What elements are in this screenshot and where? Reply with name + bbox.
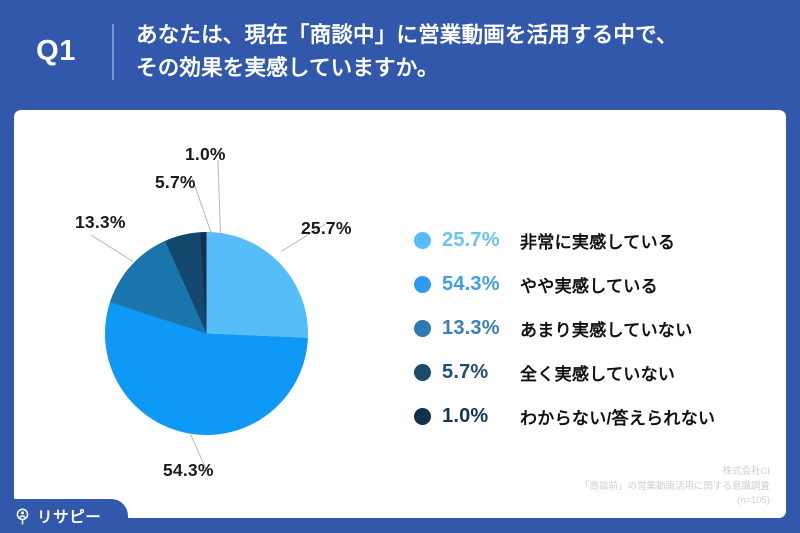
footnote-survey-name: 「商談前」の営業動画活用に関する意識調査 bbox=[580, 480, 770, 495]
pie-chart bbox=[105, 232, 308, 435]
footnote-company: 株式会社CI bbox=[580, 465, 770, 480]
brand-logo[interactable]: リサピー bbox=[0, 499, 128, 533]
legend-label-2: やや実感している bbox=[520, 272, 658, 297]
legend-item-あまり実感していない[interactable]: 13.3% あまり実感していない bbox=[414, 306, 786, 350]
pie-label-1-0: 1.0% bbox=[185, 144, 226, 165]
legend-label-5: わからない/答えられない bbox=[520, 404, 715, 429]
question-title: あなたは、現在「商談中」に営業動画を活用する中で、 その効果を実感していますか。 bbox=[114, 19, 698, 84]
legend-dot-icon-3 bbox=[414, 320, 431, 337]
legend-item-全く実感していない[interactable]: 5.7% 全く実感していない bbox=[414, 350, 786, 394]
question-title-line-1: あなたは、現在「商談中」に営業動画を活用する中で、 bbox=[136, 19, 678, 52]
leader-line-1-0 bbox=[217, 160, 221, 234]
magnifier-person-icon bbox=[13, 507, 32, 526]
slide-root: Q1 あなたは、現在「商談中」に営業動画を活用する中で、 その効果を実感していま… bbox=[0, 0, 800, 533]
legend-dot-icon-5 bbox=[414, 408, 431, 425]
pie-label-5-7: 5.7% bbox=[155, 172, 196, 193]
legend-label-1: 非常に実感している bbox=[520, 228, 675, 253]
legend-percent-5: 1.0% bbox=[442, 405, 520, 428]
content-card: 25.7% 54.3% 13.3% 5.7% 1.0% 25.7% 非常に実感し… bbox=[14, 110, 786, 518]
legend-percent-3: 13.3% bbox=[442, 317, 520, 340]
source-footnote: 株式会社CI 「商談前」の営業動画活用に関する意識調査 (n=105) bbox=[580, 465, 770, 509]
brand-logo-text: リサピー bbox=[37, 505, 101, 527]
legend-percent-1: 25.7% bbox=[442, 229, 520, 252]
legend-item-やや実感している[interactable]: 54.3% やや実感している bbox=[414, 262, 786, 306]
slide-header: Q1 あなたは、現在「商談中」に営業動画を活用する中で、 その効果を実感していま… bbox=[0, 0, 800, 104]
question-title-line-2: その効果を実感していますか。 bbox=[136, 52, 678, 85]
pie-label-54-3: 54.3% bbox=[163, 460, 214, 481]
leader-line-13-3 bbox=[91, 235, 134, 262]
chart-legend: 25.7% 非常に実感している 54.3% やや実感している 13.3% あまり… bbox=[414, 218, 786, 438]
footnote-sample-size: (n=105) bbox=[580, 494, 770, 509]
legend-dot-icon-4 bbox=[414, 364, 431, 381]
legend-item-わからない-答えられない[interactable]: 1.0% わからない/答えられない bbox=[414, 394, 786, 438]
legend-label-3: あまり実感していない bbox=[520, 316, 693, 341]
pie-label-13-3: 13.3% bbox=[75, 212, 126, 233]
legend-percent-4: 5.7% bbox=[442, 361, 520, 384]
legend-percent-2: 54.3% bbox=[442, 273, 520, 296]
legend-dot-icon-2 bbox=[414, 276, 431, 293]
pie-chart-area: 25.7% 54.3% 13.3% 5.7% 1.0% bbox=[14, 110, 414, 518]
legend-label-4: 全く実感していない bbox=[520, 360, 675, 385]
pie-label-25-7: 25.7% bbox=[301, 218, 352, 239]
legend-item-非常に実感している[interactable]: 25.7% 非常に実感している bbox=[414, 218, 786, 262]
legend-dot-icon-1 bbox=[414, 232, 431, 249]
question-number: Q1 bbox=[0, 35, 112, 70]
